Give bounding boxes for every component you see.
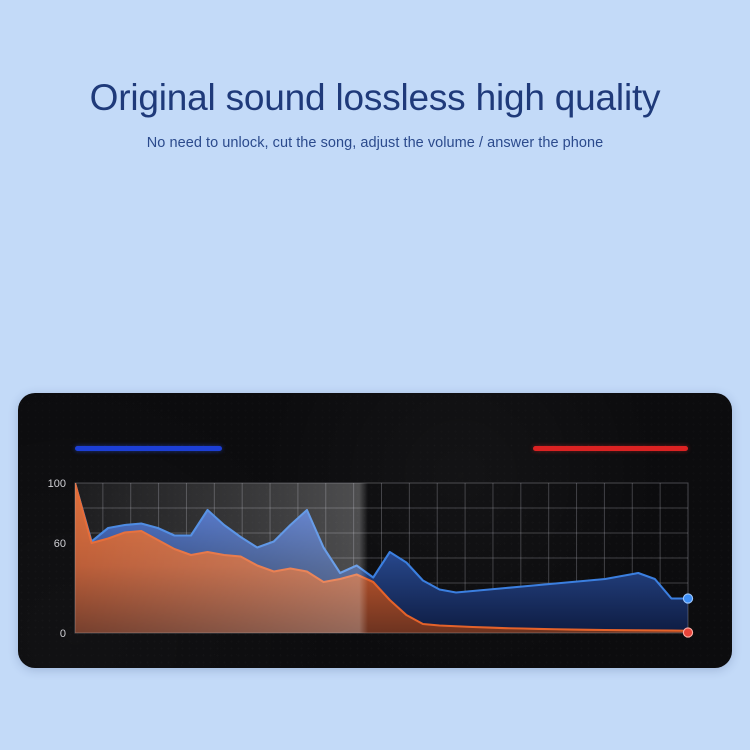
y-tick-label-0: 0 [60, 628, 66, 640]
page-title: Original sound lossless high quality [0, 0, 750, 119]
y-tick-label-100: 100 [48, 478, 66, 490]
y-axis-labels: 100 60 0 [48, 478, 66, 640]
red-end-marker-dot[interactable] [683, 628, 692, 637]
chart-canvas: 100 60 0 [18, 393, 732, 668]
blue-end-marker-dot[interactable] [683, 594, 692, 603]
header-section: Original sound lossless high quality No … [0, 0, 750, 151]
chart-highlight-region[interactable] [75, 483, 368, 633]
y-tick-label-60: 60 [54, 538, 66, 550]
page-subtitle: No need to unlock, cut the song, adjust … [0, 119, 750, 151]
device-display-panel: 100 60 0 [18, 393, 732, 668]
area-chart[interactable]: 100 60 0 [18, 393, 732, 668]
